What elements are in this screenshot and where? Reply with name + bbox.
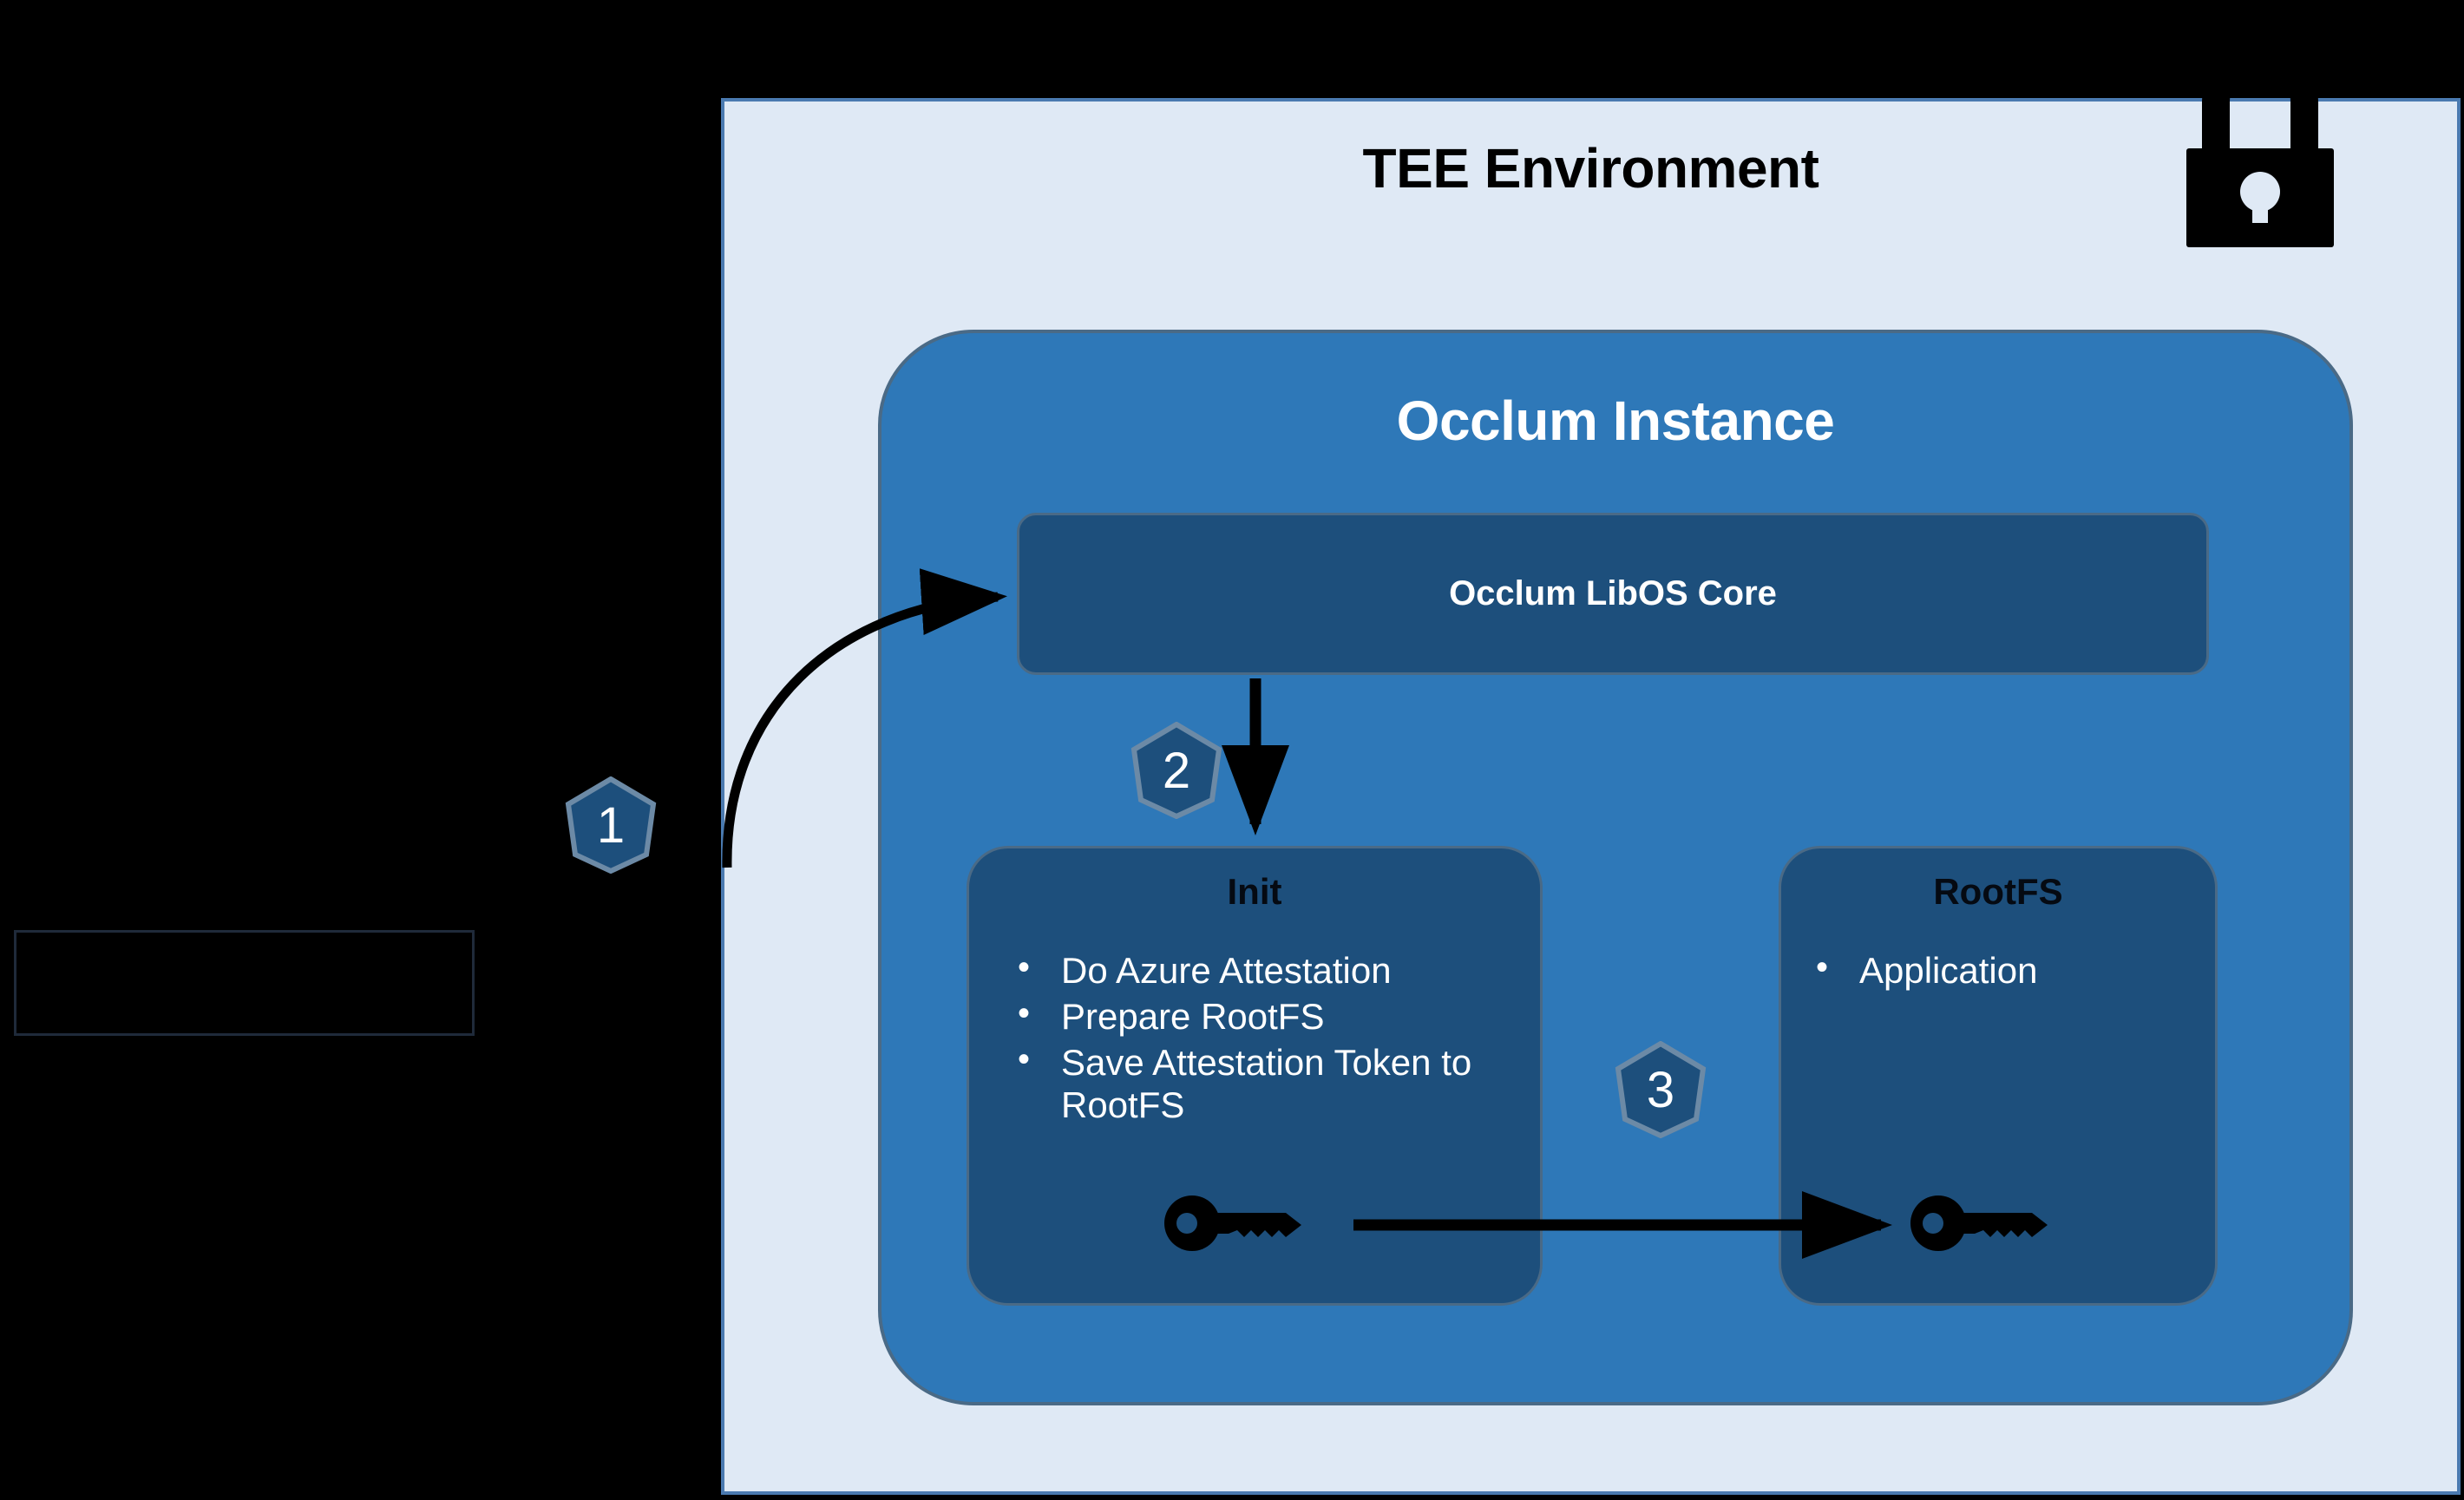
list-item: Prepare RootFS [1011, 995, 1523, 1038]
step-badge-1: 1 [560, 776, 662, 874]
list-item: Save Attestation Token to RootFS [1011, 1041, 1523, 1126]
step-badge-2-number: 2 [1125, 722, 1228, 819]
padlock-icon [2169, 82, 2351, 247]
rootfs-title: RootFS [1781, 871, 2215, 913]
key-icon [1164, 1195, 1310, 1254]
step-badge-3-number: 3 [1609, 1041, 1712, 1138]
occlum-libos-core-label: Occlum LibOS Core [1019, 515, 2206, 672]
key-icon [1910, 1195, 2056, 1254]
step-badge-2: 2 [1125, 722, 1228, 819]
list-item: Application [1809, 949, 2198, 992]
list-item: Do Azure Attestation [1011, 949, 1523, 992]
diagram-canvas: TEE Environment Occlum Instance Occlum L… [0, 0, 2464, 1500]
occlum-instance-title: Occlum Instance [881, 389, 2349, 453]
occlum-libos-core-panel: Occlum LibOS Core [1017, 513, 2209, 675]
init-bullet-list: Do Azure Attestation Prepare RootFS Save… [1011, 949, 1523, 1130]
step-badge-1-number: 1 [560, 776, 662, 874]
left-placeholder-box [14, 930, 475, 1036]
rootfs-bullet-list: Application [1809, 949, 2198, 995]
step-badge-3: 3 [1609, 1041, 1712, 1138]
init-title: Init [969, 871, 1540, 913]
